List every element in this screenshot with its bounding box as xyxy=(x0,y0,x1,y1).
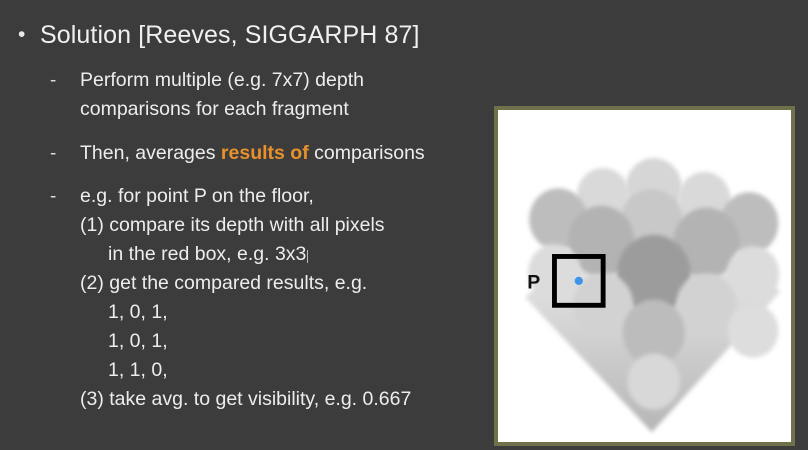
sphere-15 xyxy=(627,354,680,410)
main-bullet-solution: • Solution [Reeves, SIGGARPH 87] xyxy=(14,18,484,52)
sub-line-redbox: in the red box, e.g. 3x3 xyxy=(80,240,411,269)
text-column: • Solution [Reeves, SIGGARPH 87] - Perfo… xyxy=(0,0,492,450)
sub-line: (3) take avg. to get visibility, e.g. 0.… xyxy=(80,385,411,414)
sphere-9 xyxy=(727,246,780,302)
point-p-label: P xyxy=(527,272,540,294)
sub-line: (1) compare its depth with all pixels xyxy=(80,211,411,240)
sphere-12 xyxy=(676,273,736,337)
sub-line: comparisons for each fragment xyxy=(80,95,364,124)
slide-root: • Solution [Reeves, SIGGARPH 87] - Perfo… xyxy=(0,0,808,450)
sub-line-text: in the red box, e.g. 3x3 xyxy=(108,243,306,265)
bullet-dot-icon: • xyxy=(14,18,40,52)
sub-line: e.g. for point P on the floor, xyxy=(80,182,411,211)
page-title: Solution [Reeves, SIGGARPH 87] xyxy=(40,18,420,52)
sub-bullet-body: e.g. for point P on the floor, (1) compa… xyxy=(80,182,411,414)
dash-bullet-icon: - xyxy=(50,66,80,95)
sub-line-mixed: Then, averages results of comparisons xyxy=(80,139,425,168)
sub-bullet-perform-comparisons: - Perform multiple (e.g. 7x7) depth comp… xyxy=(50,66,490,124)
sub-line: (2) get the compared results, e.g. xyxy=(80,269,411,298)
text-pre: Then, averages xyxy=(80,142,221,164)
sub-line: Perform multiple (e.g. 7x7) depth xyxy=(80,66,364,95)
sub-bullet-averages-results: - Then, averages results of comparisons xyxy=(50,139,490,168)
figure-canvas: P xyxy=(498,110,791,442)
highlight-results-of: results of xyxy=(221,142,309,164)
text-caret-artifact xyxy=(307,250,308,263)
dash-bullet-icon: - xyxy=(50,182,80,211)
text-post: comparisons xyxy=(309,142,425,164)
shadow-map-illustration: P xyxy=(498,110,791,442)
sub-bullet-example-point-p: - e.g. for point P on the floor, (1) com… xyxy=(50,182,490,414)
sub-line-result-row: 1, 0, 1, xyxy=(80,298,411,327)
sub-line-result-row: 1, 1, 0, xyxy=(80,356,411,385)
sub-bullet-body: Then, averages results of comparisons xyxy=(80,139,425,168)
point-p-marker xyxy=(575,277,583,285)
figure-panel: P xyxy=(494,106,795,446)
sub-bullet-body: Perform multiple (e.g. 7x7) depth compar… xyxy=(80,66,364,124)
sphere-cluster xyxy=(528,158,779,409)
sphere-14 xyxy=(728,304,779,358)
sub-line-result-row: 1, 0, 1, xyxy=(80,327,411,356)
dash-bullet-icon: - xyxy=(50,139,80,168)
